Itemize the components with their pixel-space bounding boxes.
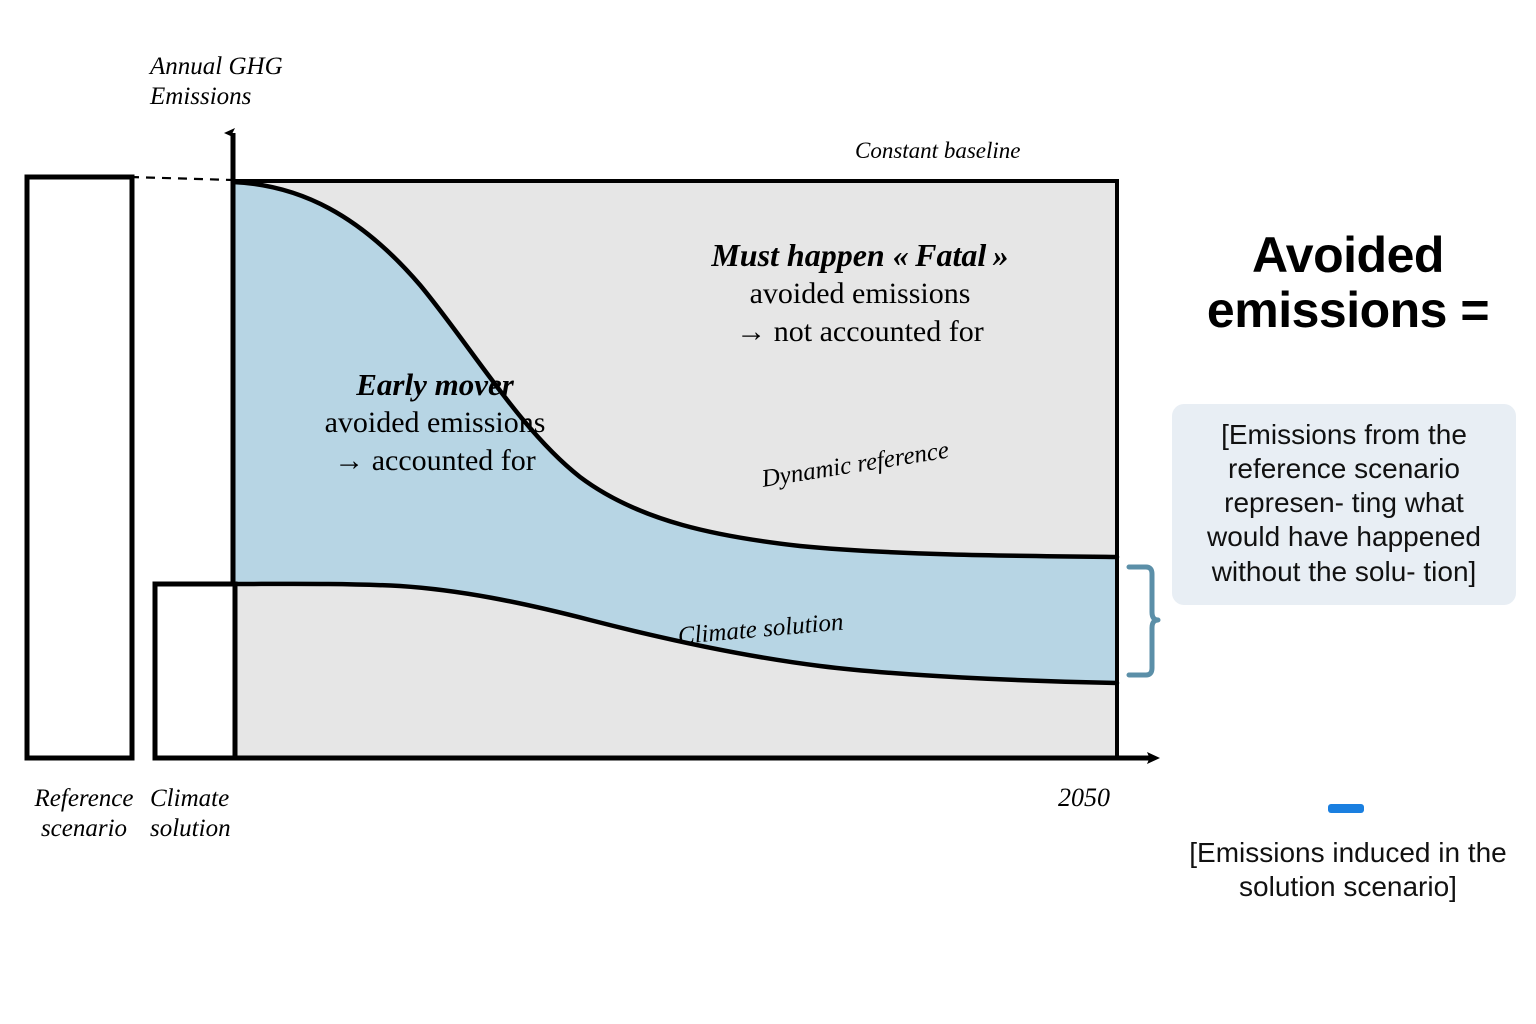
avoided-emissions-brace [1129,567,1158,675]
fatal-line3: → not accounted for [610,313,1110,351]
reference-emissions-definition-text: [Emissions from the reference scenario r… [1192,418,1496,589]
x-axis-end-label: 2050 [1058,783,1110,813]
minus-operator-icon [1328,804,1364,813]
climate-solution-bar [155,584,235,758]
avoided-emissions-panel: Avoided emissions = [Emissions from the … [1160,228,1536,968]
early-mover-line2: avoided emissions [245,404,625,442]
reference-scenario-bar [27,177,132,758]
avoided-heading-line1: Avoided [1252,227,1444,283]
climate-solution-label-line2: solution [150,815,231,842]
reference-scenario-label-line2: scenario [41,815,127,842]
reference-scenario-label-line1: Reference [35,785,134,812]
y-axis-label-line1: Annual GHG [150,53,283,80]
avoided-emissions-heading: Avoided emissions = [1160,228,1536,338]
fatal-annotation: Must happen « Fatal » avoided emissions … [610,236,1110,351]
diagram-root: Annual GHG Emissions Constant baseline M… [0,0,1536,1024]
baseline-dashed-connector [130,177,233,180]
reference-scenario-bar-label: Reference scenario [14,784,154,844]
constant-baseline-label: Constant baseline [855,138,1020,164]
early-mover-annotation: Early mover avoided emissions → accounte… [245,366,625,480]
reference-emissions-definition-box: [Emissions from the reference scenario r… [1172,404,1516,605]
fatal-headline: Must happen « Fatal » [610,236,1110,275]
y-axis-label: Annual GHG Emissions [150,52,350,111]
induced-emissions-text: [Emissions induced in the solution scena… [1160,836,1536,904]
early-mover-line3: → accounted for [245,442,625,480]
early-mover-headline: Early mover [245,366,625,404]
fatal-line2: avoided emissions [610,275,1110,313]
avoided-heading-line2: emissions = [1207,282,1489,338]
y-axis-label-line2: Emissions [150,83,251,110]
climate-solution-bar-label: Climate solution [150,784,270,844]
climate-solution-label-line1: Climate [150,785,229,812]
